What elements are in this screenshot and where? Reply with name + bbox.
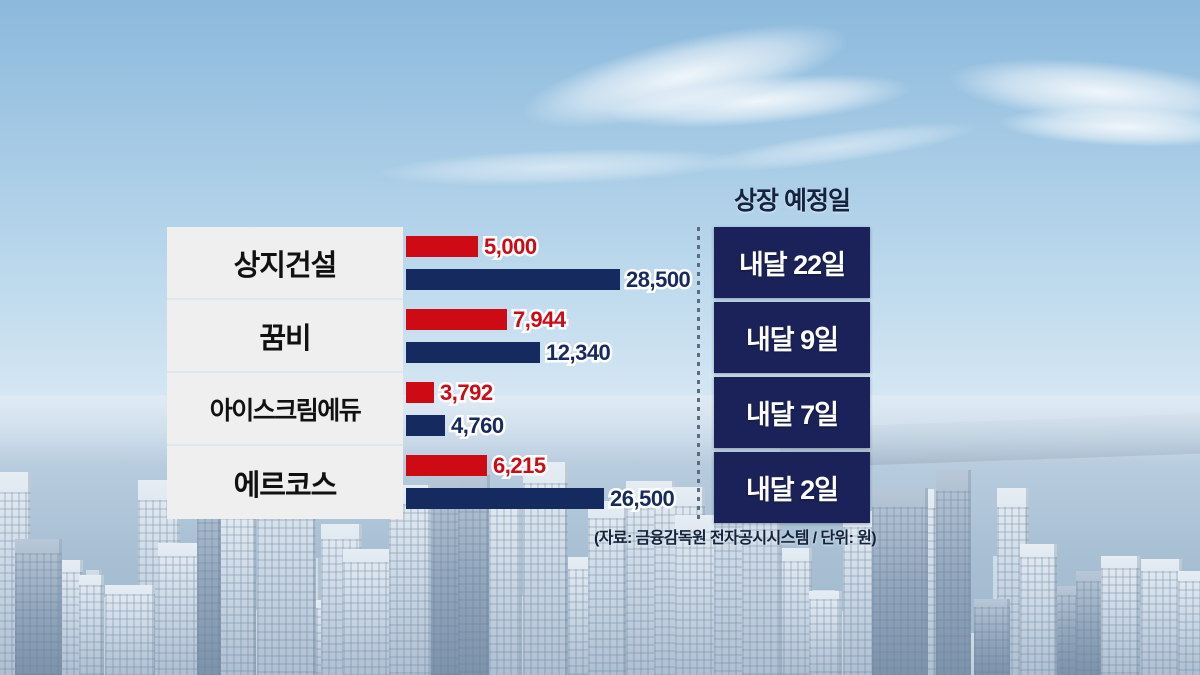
bar-current-price [406,415,445,436]
listing-date-box: 내달 22일 [714,227,870,298]
company-name: 에르코스 [234,462,337,504]
listing-date-box: 내달 7일 [714,377,870,448]
cloud-shape [380,144,741,191]
bar-value-label: 6,215 [493,455,546,476]
cloud-shape [699,113,980,182]
listing-date: 내달 9일 [746,318,838,357]
company-name: 상지건설 [234,242,337,284]
bar-current-price [406,269,620,290]
bar-value-label: 28,500 [626,269,690,290]
listing-date: 내달 22일 [739,243,845,282]
bar-value-label: 5,000 [484,236,537,257]
table-row: 상지건설 [167,227,403,300]
listing-date-box: 내달 2일 [714,452,870,523]
infographic-stage: 상지건설 꿈비 아이스크림에듀 에르코스 5,000 28,500 7,944 … [0,0,1200,675]
bar-row: 3,792 4,760 [406,373,706,446]
building-shape [343,549,392,675]
building-shape [936,470,971,675]
bar-row: 6,215 26,500 [406,446,706,519]
bar-value-label: 3,792 [440,382,493,403]
building-shape [79,575,104,675]
bar-current-price [406,488,604,509]
dotted-divider [697,227,700,523]
cloud-shape [516,4,854,148]
building-shape [809,591,842,675]
cloud-shape [609,65,912,137]
bar-value-label: 26,500 [610,488,674,509]
bar-value-label: 12,340 [546,342,610,363]
bar-row: 7,944 12,340 [406,300,706,373]
bar-offering-price [406,382,434,403]
building-shape [1101,556,1140,675]
table-row: 아이스크림에듀 [167,373,403,446]
bar-current-price [406,342,540,363]
table-row: 꿈비 [167,300,403,373]
listing-date-box: 내달 9일 [714,302,870,373]
building-shape [974,599,1010,675]
bar-offering-price [406,309,507,330]
bar-row: 5,000 28,500 [406,227,706,300]
company-name-panel: 상지건설 꿈비 아이스크림에듀 에르코스 [167,227,403,519]
building-shape [105,585,155,675]
building-shape [1178,571,1200,675]
building-shape [1020,544,1057,675]
company-name: 아이스크림에듀 [210,391,361,427]
bar-offering-price [406,455,487,476]
source-note: (자료: 금융감독원 전자공시시스템 / 단위: 원) [594,524,876,548]
bar-chart-area: 5,000 28,500 7,944 12,340 3,792 4,760 6,… [406,227,706,523]
bar-offering-price [406,236,478,257]
listing-date: 내달 2일 [746,468,838,507]
cloud-shape [999,104,1200,151]
bar-value-label: 4,760 [451,415,504,436]
column-title: 상장 예정일 [714,181,870,217]
table-row: 에르코스 [167,446,403,519]
bar-value-label: 7,944 [513,309,566,330]
building-shape [872,488,928,675]
listing-date: 내달 7일 [746,393,838,432]
building-shape [15,539,62,675]
building-shape [219,501,256,675]
cloud-shape [948,49,1200,135]
listing-date-column: 상장 예정일 내달 22일 내달 9일 내달 7일 내달 2일 [714,227,870,527]
company-name: 꿈비 [259,315,310,357]
building-shape [1141,559,1182,675]
